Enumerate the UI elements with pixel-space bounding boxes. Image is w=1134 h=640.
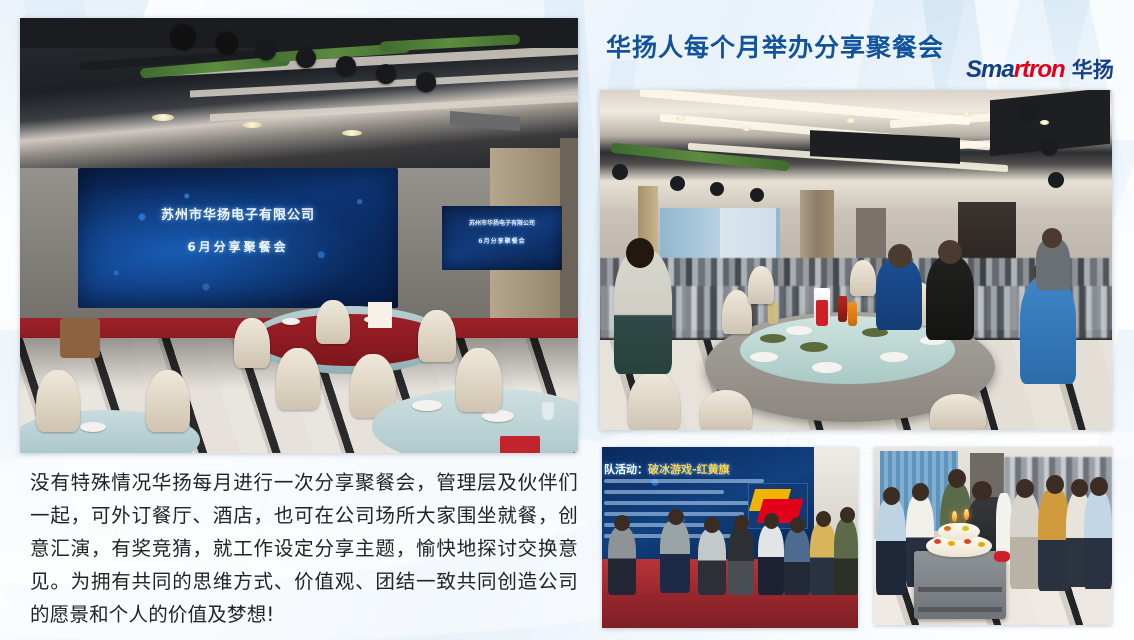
cake-tier-top [938,523,980,540]
side-led-line-1: 苏州市华扬电子有限公司 [442,218,562,227]
led-line-2: 6月分享聚餐会 [78,238,398,255]
logo-text-chinese: 华扬 [1072,58,1114,82]
game-screen-title: 队活动：破冰游戏-红黄旗 [604,461,730,477]
body-paragraph: 没有特殊情况华扬每月进行一次分享聚餐会，管理层及伙伴们一起，可外订餐厅、酒店，也… [30,466,578,631]
photo-banquet-hall [600,90,1112,430]
side-led-line-2: 6月分享聚餐会 [442,236,562,245]
logo-text-red: rtron [1014,56,1065,83]
logo-text-dark: Sma [966,56,1014,83]
slide-root: 华扬人每个月举办分享聚餐会 Smartron华扬 [0,0,1134,640]
brand-logo: Smartron华扬 [966,58,1114,82]
photo-cake-ceremony [874,447,1112,625]
page-title: 华扬人每个月举办分享聚餐会 [606,28,944,64]
led-screen-main: 苏州市华扬电子有限公司 6月分享聚餐会 [78,168,398,308]
led-line-1: 苏州市华扬电子有限公司 [78,204,398,223]
photo-team-game: 队活动：破冰游戏-红黄旗 [602,447,858,628]
led-screen-side: 苏州市华扬电子有限公司 6月分享聚餐会 [442,206,562,270]
photo-hall-screen: 苏州市华扬电子有限公司 6月分享聚餐会 苏州市华扬电子有限公司 6月分享聚餐会 [20,18,578,453]
